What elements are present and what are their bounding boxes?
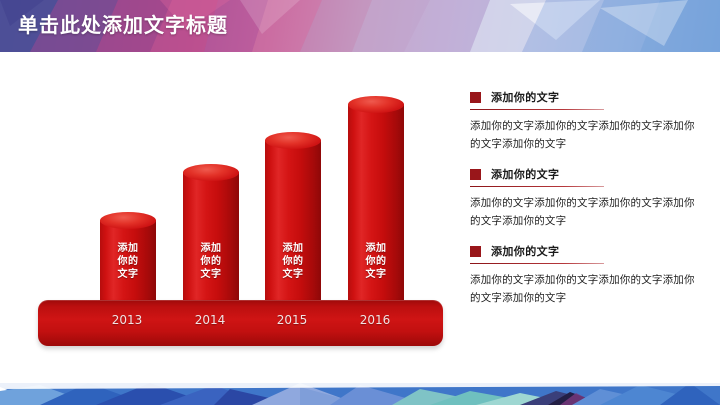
content-block-body: 添加你的文字添加你的文字添加你的文字添加你的文字添加你的文字	[470, 271, 698, 307]
content-block-header: 添加你的文字	[470, 88, 706, 106]
title-banner: 单击此处添加文字标题	[0, 0, 720, 52]
square-bullet-icon	[470, 169, 481, 180]
slide-canvas: 单击此处添加文字标题 添加 你的 文字 添加 你的 文字	[0, 0, 720, 405]
content-block[interactable]: 添加你的文字 添加你的文字添加你的文字添加你的文字添加你的文字添加你的文字	[470, 88, 706, 153]
cylinder-2014	[183, 164, 239, 312]
bar-item[interactable]: 添加 你的 文字	[265, 132, 321, 312]
axis-label-2013: 2013	[92, 313, 162, 327]
cylinder-top-ellipse	[100, 212, 156, 229]
square-bullet-icon	[470, 246, 481, 257]
bar-label-line2: 你的	[265, 255, 321, 268]
footer-banner	[0, 383, 720, 405]
bar-label-line1: 添加	[265, 242, 321, 255]
bar-label-line1: 添加	[183, 242, 239, 255]
bar-label-line3: 文字	[348, 268, 404, 281]
chart-base-plinth: 2013 2014 2015 2016	[38, 300, 443, 346]
content-block-header: 添加你的文字	[470, 165, 706, 183]
divider	[470, 263, 604, 264]
footer-polygon-art	[0, 383, 720, 405]
content-block[interactable]: 添加你的文字 添加你的文字添加你的文字添加你的文字添加你的文字添加你的文字	[470, 165, 706, 230]
cylinder-body	[265, 140, 321, 312]
bar-label-line1: 添加	[348, 242, 404, 255]
content-block-title: 添加你的文字	[491, 243, 559, 259]
cylinder-top-ellipse	[265, 132, 321, 149]
page-title: 单击此处添加文字标题	[18, 8, 228, 42]
content-block-body: 添加你的文字添加你的文字添加你的文字添加你的文字添加你的文字	[470, 194, 698, 230]
bar-label-line1: 添加	[100, 242, 156, 255]
axis-label-2016: 2016	[340, 313, 410, 327]
bar-value-label: 添加 你的 文字	[183, 242, 239, 281]
bar-item[interactable]: 添加 你的 文字	[348, 96, 404, 312]
content-block[interactable]: 添加你的文字 添加你的文字添加你的文字添加你的文字添加你的文字添加你的文字	[470, 242, 706, 307]
bar-label-line2: 你的	[183, 255, 239, 268]
content-block-body: 添加你的文字添加你的文字添加你的文字添加你的文字添加你的文字	[470, 117, 698, 153]
bar-label-line3: 文字	[183, 268, 239, 281]
bar-value-label: 添加 你的 文字	[265, 242, 321, 281]
content-block-header: 添加你的文字	[470, 242, 706, 260]
content-block-title: 添加你的文字	[491, 89, 559, 105]
bar-label-line3: 文字	[100, 268, 156, 281]
content-panel: 添加你的文字 添加你的文字添加你的文字添加你的文字添加你的文字添加你的文字 添加…	[470, 88, 706, 319]
cylinder-2015	[265, 132, 321, 312]
bar-chart: 添加 你的 文字 添加 你的 文字 添加	[0, 52, 460, 362]
bar-label-line2: 你的	[100, 255, 156, 268]
bar-label-line2: 你的	[348, 255, 404, 268]
bar-label-line3: 文字	[265, 268, 321, 281]
bar-value-label: 添加 你的 文字	[100, 242, 156, 281]
divider	[470, 186, 604, 187]
divider	[470, 109, 604, 110]
bar-item[interactable]: 添加 你的 文字	[100, 212, 156, 312]
bar-item[interactable]: 添加 你的 文字	[183, 164, 239, 312]
axis-label-2014: 2014	[175, 313, 245, 327]
axis-label-2015: 2015	[257, 313, 327, 327]
content-block-title: 添加你的文字	[491, 166, 559, 182]
cylinder-top-ellipse	[348, 96, 404, 113]
square-bullet-icon	[470, 92, 481, 103]
cylinder-top-ellipse	[183, 164, 239, 181]
bar-value-label: 添加 你的 文字	[348, 242, 404, 281]
